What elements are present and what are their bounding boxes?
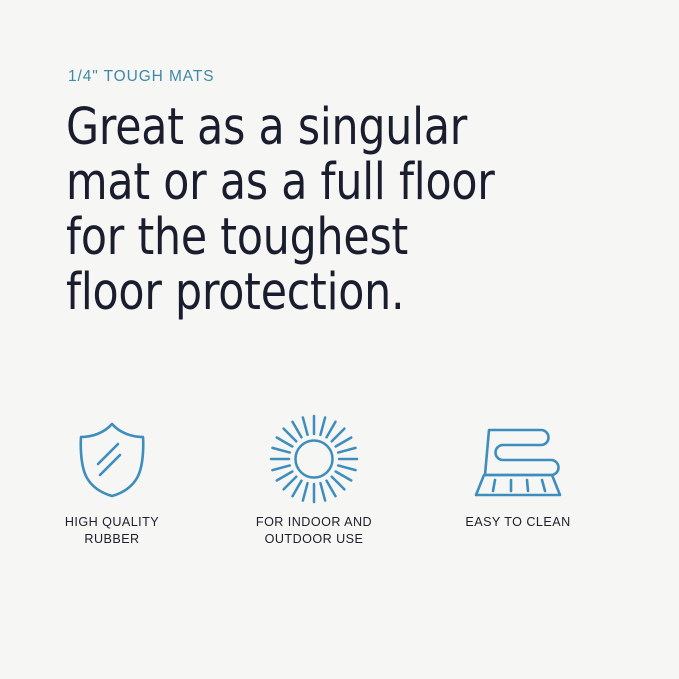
feature-caption: EASY TO CLEAN	[418, 514, 618, 531]
feature-caption-line-2: OUTDOOR USE	[214, 531, 414, 548]
headline-line-4: floor protection.	[66, 265, 587, 320]
promo-banner: 1/4" TOUGH MATS Great as a singular mat …	[0, 0, 679, 679]
headline-line-2: mat or as a full floor	[66, 155, 587, 210]
feature-item-indoor-outdoor: FOR INDOOR AND OUTDOOR USE	[214, 404, 414, 547]
headline-line-1: Great as a singular	[66, 100, 587, 155]
feature-list: HIGH QUALITY RUBBER	[0, 404, 679, 584]
shield-icon	[12, 404, 212, 514]
feature-caption: HIGH QUALITY RUBBER	[12, 514, 212, 547]
sun-icon-graphic	[266, 411, 362, 507]
feature-caption-line-1: HIGH QUALITY	[12, 514, 212, 531]
page-title: Great as a singular mat or as a full flo…	[66, 100, 626, 320]
feature-caption-line-1: FOR INDOOR AND	[214, 514, 414, 531]
scrub-brush-icon-graphic	[472, 420, 564, 498]
feature-caption-line-1: EASY TO CLEAN	[418, 514, 618, 531]
feature-item-easy-to-clean: EASY TO CLEAN	[418, 404, 618, 531]
shield-icon-graphic	[74, 420, 150, 498]
feature-item-high-quality-rubber: HIGH QUALITY RUBBER	[12, 404, 212, 547]
scrub-brush-icon	[418, 404, 618, 514]
sun-icon	[214, 404, 414, 514]
feature-caption-line-2: RUBBER	[12, 531, 212, 548]
eyebrow-label: 1/4" TOUGH MATS	[68, 68, 214, 86]
headline-line-3: for the toughest	[66, 210, 587, 265]
feature-caption: FOR INDOOR AND OUTDOOR USE	[214, 514, 414, 547]
